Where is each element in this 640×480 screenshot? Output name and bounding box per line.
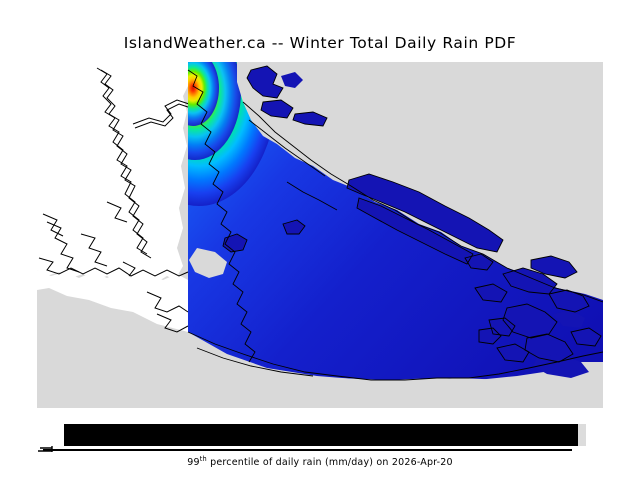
colorbar-min-arrow-icon <box>38 445 54 453</box>
caption-description: percentile of daily rain (mm/day) on 202… <box>207 457 453 468</box>
colorbar-axis-line <box>43 449 572 451</box>
colorbar[interactable] <box>37 420 603 454</box>
map-canvas[interactable] <box>37 62 603 408</box>
colorbar-overflow-swatch <box>578 424 586 446</box>
caption-percentile-number: 99 <box>187 457 200 468</box>
map-panel[interactable] <box>37 62 603 408</box>
colorbar-gradient-bar[interactable] <box>64 424 578 446</box>
mainland-white-region <box>37 62 188 332</box>
caption-percentile-suffix: th <box>200 455 207 463</box>
figure-title: IslandWeather.ca -- Winter Total Daily R… <box>0 34 640 52</box>
figure-caption: 99th percentile of daily rain (mm/day) o… <box>0 457 640 468</box>
weather-figure: IslandWeather.ca -- Winter Total Daily R… <box>0 0 640 480</box>
